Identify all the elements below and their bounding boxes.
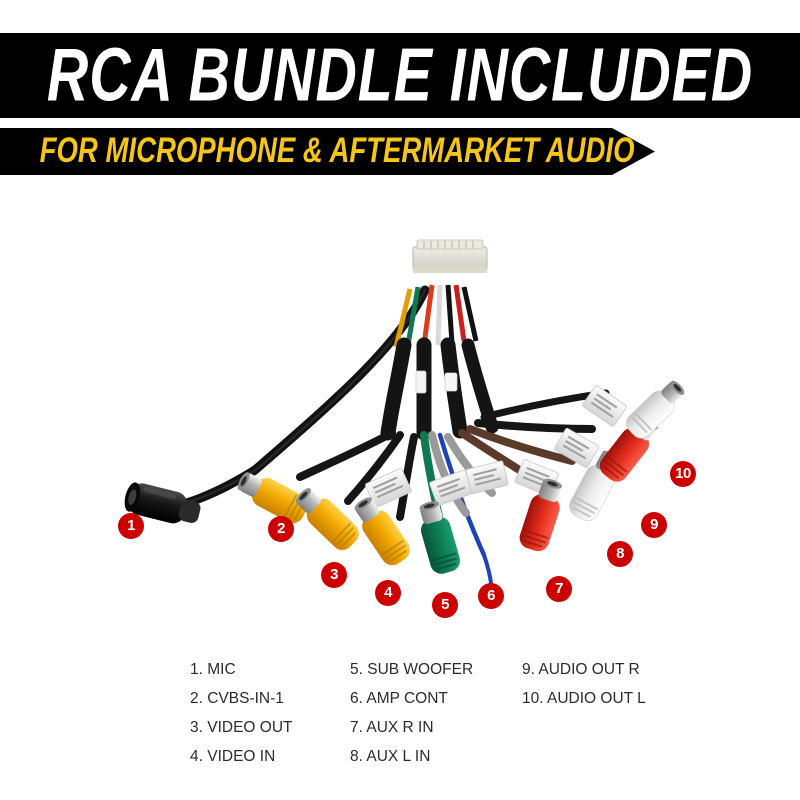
legend-item: 3. VIDEO OUT [190,713,293,742]
callout-badge-3: 3 [321,562,347,588]
legend-item: 2. CVBS-IN-1 [190,684,293,713]
callout-badge-9: 9 [641,512,667,538]
legend-item: 6. AMP CONT [350,684,473,713]
harness-photo [0,195,800,635]
amp-control-wire-tip [484,555,491,583]
callout-badge-7: 7 [546,576,572,602]
legend-item: 7. AUX R IN [350,713,473,742]
legend-item: 5. SUB WOOFER [350,655,473,684]
legend: 1. MIC 2. CVBS-IN-1 3. VIDEO OUT 4. VIDE… [0,655,800,775]
cable-tie [416,371,426,393]
rca-white-audio-out-l [622,376,690,443]
callout-badge-5: 5 [432,592,458,618]
legend-item: 9. AUDIO OUT R [522,655,646,684]
subheadline-banner: FOR MICROPHONE & AFTERMARKET AUDIO [0,128,655,175]
legend-item: 4. VIDEO IN [190,742,293,771]
legend-item: 1. MIC [190,655,293,684]
callout-badge-10: 10 [670,461,696,487]
callout-badge-8: 8 [607,541,633,567]
legend-column-1: 1. MIC 2. CVBS-IN-1 3. VIDEO OUT 4. VIDE… [190,655,293,771]
callout-badge-1: 1 [118,513,144,539]
legend-column-3: 9. AUDIO OUT R 10. AUDIO OUT L [522,655,646,713]
callout-badge-6: 6 [478,583,504,609]
headline-banner: RCA BUNDLE INCLUDED [0,33,800,118]
headline-text: RCA BUNDLE INCLUDED [47,38,753,114]
product-image-page: RCA BUNDLE INCLUDED FOR MICROPHONE & AFT… [0,0,800,800]
multi-pin-connector [413,240,487,273]
subheadline-text: FOR MICROPHONE & AFTERMARKET AUDIO [40,134,635,169]
rca-green-subwoofer [414,498,463,576]
callout-badge-4: 4 [375,580,401,606]
callout-badge-2: 2 [268,516,294,542]
legend-item: 8. AUX L IN [350,742,473,771]
legend-column-2: 5. SUB WOOFER 6. AMP CONT 7. AUX R IN 8.… [350,655,473,771]
rca-red-aux-r [517,475,568,554]
legend-item: 10. AUDIO OUT L [522,684,646,713]
